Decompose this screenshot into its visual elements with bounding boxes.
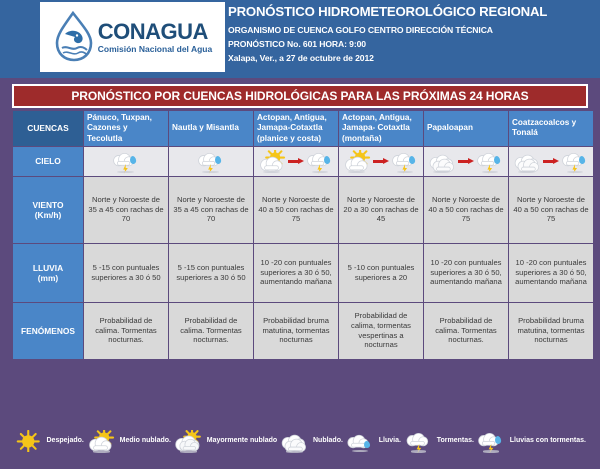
legend-label: Despejado.: [47, 437, 84, 444]
lluvias-con-tormentas-icon: [306, 150, 335, 173]
cielo-cell-4: [339, 147, 423, 176]
row-label-viento: VIENTO (Km/h): [13, 177, 83, 243]
mayormente-nublado-icon: [174, 430, 203, 453]
viento-cell-2: Norte y Noroeste de 35 a 45 con rachas d…: [169, 177, 253, 243]
lluvia-cell-6: 10 -20 con puntuales superiores a 30 ó 5…: [509, 244, 593, 302]
row-label-cuencas: CUENCAS: [13, 111, 83, 146]
fenomenos-cell-2: Probabilidad de calima. Tormentas noctur…: [169, 303, 253, 359]
header-forecast-number-line: PRONÓSTICO No. 601 HORA: 9:00: [228, 39, 594, 49]
legend-label: Medio nublado.: [120, 437, 171, 444]
lluvia-cell-4: 5 -10 con puntuales superiores a 20: [339, 244, 423, 302]
table-header-row: CUENCAS Pánuco, Tuxpan, Cazones y Tecolu…: [13, 111, 593, 146]
lluvias-con-tormentas-icon: [391, 150, 420, 173]
table-row-lluvia: LLUVIA (mm) 5 -15 con puntuales superior…: [13, 244, 593, 302]
forecast-table: CUENCAS Pánuco, Tuxpan, Cazones y Tecolu…: [12, 110, 594, 360]
legend-label: Mayormente nublado: [207, 437, 277, 444]
column-header-3: Actopan, Antigua, Jamapa-Cotaxtla (plani…: [254, 111, 338, 146]
row-label-lluvia: LLUVIA (mm): [13, 244, 83, 302]
medio-nublado-icon: [343, 150, 372, 173]
row-label-fenomenos: FENÓMENOS: [13, 303, 83, 359]
section-title-frame: PRONÓSTICO POR CUENCAS HIDROLÓGICAS PARA…: [12, 84, 588, 108]
table-row-cielo: CIELO: [13, 147, 593, 176]
column-header-6: Coatzacoalcos y Tonalá: [509, 111, 593, 146]
transition-arrow-icon: [543, 157, 559, 165]
header-band: CONAGUA Comisión Nacional del Agua PRONÓ…: [0, 0, 600, 78]
lluvias-con-tormentas-icon: [561, 150, 590, 173]
fenomenos-cell-5: Probabilidad de calima. Tormentas noctur…: [424, 303, 508, 359]
transition-arrow-icon: [458, 157, 474, 165]
table-row-viento: VIENTO (Km/h) Norte y Noroeste de 35 a 4…: [13, 177, 593, 243]
legend-item-mayormente-nublado: Mayormente nublado: [174, 430, 277, 453]
lluvias-con-tormentas-icon: [112, 150, 141, 173]
column-header-5: Papaloapan: [424, 111, 508, 146]
row-label-viento-line2: (Km/h): [16, 210, 80, 220]
legend-item-tormentas: Tormentas.: [404, 430, 474, 453]
nublado-icon: [280, 430, 309, 453]
page-title: PRONÓSTICO HIDROMETEOROLÓGICO REGIONAL: [228, 4, 594, 19]
table-row-fenomenos: FENÓMENOS Probabilidad de calima. Tormen…: [13, 303, 593, 359]
cielo-cell-1: [84, 147, 168, 176]
lluvia-cell-5: 10 -20 con puntuales superiores a 30 ó 5…: [424, 244, 508, 302]
lluvia-icon: [346, 430, 375, 453]
column-header-4: Actopan, Antigua, Jamapa- Cotaxtla (mont…: [339, 111, 423, 146]
fenomenos-cell-3: Probabilidad bruma matutina, tormentas n…: [254, 303, 338, 359]
transition-arrow-icon: [288, 157, 304, 165]
legend-label: Nublado.: [313, 437, 343, 444]
column-header-1: Pánuco, Tuxpan, Cazones y Tecolutla: [84, 111, 168, 146]
transition-arrow-icon: [373, 157, 389, 165]
legend-item-lluvia: Lluvia.: [346, 430, 401, 453]
despejado-icon: [14, 430, 43, 453]
fenomenos-cell-6: Probabilidad bruma matutina, tormentas n…: [509, 303, 593, 359]
medio-nublado-icon: [87, 430, 116, 453]
lluvia-cell-3: 10 -20 con puntuales superiores a 30 ó 5…: [254, 244, 338, 302]
row-label-lluvia-line2: (mm): [16, 273, 80, 283]
row-label-viento-line1: VIENTO: [16, 200, 80, 210]
cielo-cell-2: [169, 147, 253, 176]
viento-cell-3: Norte y Noroeste de 40 a 50 con rachas d…: [254, 177, 338, 243]
row-label-cielo: CIELO: [13, 147, 83, 176]
legend-label: Tormentas.: [437, 437, 474, 444]
section-title: PRONÓSTICO POR CUENCAS HIDROLÓGICAS PARA…: [14, 86, 586, 106]
viento-cell-4: Norte y Noroeste de 20 a 30 con rachas d…: [339, 177, 423, 243]
water-drop-eagle-logo-icon: [53, 11, 95, 63]
legend-bar: Despejado.Medio nublado.Mayormente nubla…: [0, 413, 600, 469]
lluvias-con-tormentas-icon: [197, 150, 226, 173]
column-header-2: Nautla y Misantla: [169, 111, 253, 146]
nublado-icon: [428, 150, 457, 173]
header-organism-line: ORGANISMO DE CUENCA GOLFO CENTRO DIRECCI…: [228, 25, 594, 35]
medio-nublado-icon: [258, 150, 287, 173]
cielo-cell-3: [254, 147, 338, 176]
fenomenos-cell-4: Probabilidad de calima, tormentas vesper…: [339, 303, 423, 359]
legend-label: Lluvia.: [379, 437, 401, 444]
row-label-lluvia-line1: LLUVIA: [16, 263, 80, 273]
logo-subtitle: Comisión Nacional del Agua: [98, 45, 212, 54]
legend-item-nublado: Nublado.: [280, 430, 342, 453]
header-place-date-line: Xalapa, Ver., a 27 de octubre de 2012: [228, 53, 594, 63]
viento-cell-6: Norte y Noroeste de 40 a 50 con rachas d…: [509, 177, 593, 243]
viento-cell-5: Norte y Noroeste de 40 a 50 con rachas d…: [424, 177, 508, 243]
conagua-logo: CONAGUA Comisión Nacional del Agua: [40, 2, 225, 72]
logo-brand: CONAGUA: [98, 21, 212, 43]
lluvia-cell-2: 5 -15 con puntuales superiores a 30 ó 50: [169, 244, 253, 302]
header-text-block: PRONÓSTICO HIDROMETEOROLÓGICO REGIONAL O…: [228, 4, 594, 67]
cielo-cell-6: [509, 147, 593, 176]
lluvia-cell-1: 5 -15 con puntuales superiores a 30 ó 50: [84, 244, 168, 302]
fenomenos-cell-1: Probabilidad de calima. Tormentas noctur…: [84, 303, 168, 359]
nublado-icon: [513, 150, 542, 173]
legend-item-medio-nublado: Medio nublado.: [87, 430, 171, 453]
lluvias-con-tormentas-icon: [477, 430, 506, 453]
lluvias-con-tormentas-icon: [476, 150, 505, 173]
legend-label: Lluvias con tormentas.: [510, 437, 586, 444]
legend-item-despejado: Despejado.: [14, 430, 84, 453]
legend-item-lluvias-con-tormentas: Lluvias con tormentas.: [477, 430, 586, 453]
cielo-cell-5: [424, 147, 508, 176]
tormentas-icon: [404, 430, 433, 453]
viento-cell-1: Norte y Noroeste de 35 a 45 con rachas d…: [84, 177, 168, 243]
